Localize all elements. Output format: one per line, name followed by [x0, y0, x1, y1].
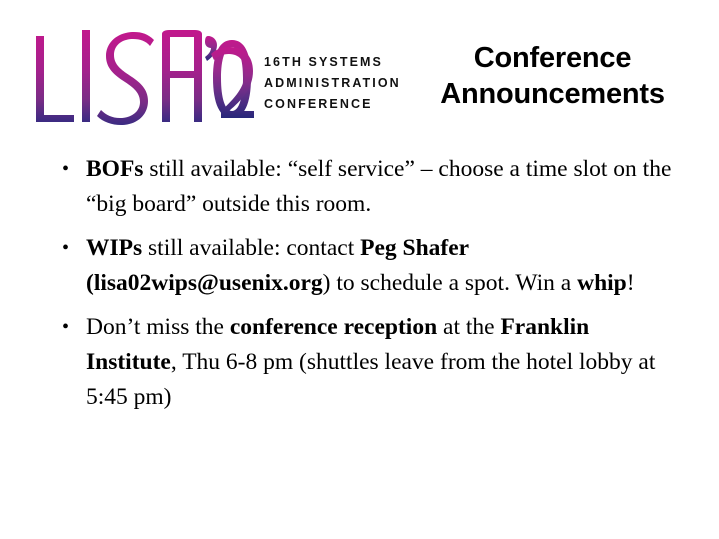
- bullet-list: • BOFs still available: “self service” –…: [58, 152, 683, 424]
- logo-subtitle-line-3: CONFERENCE: [264, 94, 401, 115]
- list-item: • BOFs still available: “self service” –…: [58, 152, 683, 222]
- bullet-icon: •: [62, 152, 69, 187]
- logo-subtitle: 16TH SYSTEMS ADMINISTRATION CONFERENCE: [264, 52, 401, 115]
- slide-header: 16TH SYSTEMS ADMINISTRATION CONFERENCE C…: [0, 0, 719, 140]
- list-item-text: Don’t miss the conference reception at t…: [86, 314, 655, 410]
- logo-subtitle-line-1: 16TH SYSTEMS: [264, 52, 401, 73]
- slide: 16TH SYSTEMS ADMINISTRATION CONFERENCE C…: [0, 0, 719, 539]
- list-item: • Don’t miss the conference reception at…: [58, 310, 683, 415]
- list-item: • WIPs still available: contact Peg Shaf…: [58, 231, 683, 301]
- list-item-text: WIPs still available: contact Peg Shafer…: [86, 235, 635, 296]
- lisa-wordmark-icon: [30, 22, 262, 130]
- lisa-conference-logo: 16TH SYSTEMS ADMINISTRATION CONFERENCE: [30, 22, 400, 134]
- page-title-line-1: Conference: [400, 40, 705, 76]
- bullet-icon: •: [62, 231, 69, 266]
- list-item-text: BOFs still available: “self service” – c…: [86, 156, 671, 217]
- page-title: Conference Announcements: [400, 40, 705, 112]
- bullet-icon: •: [62, 310, 69, 345]
- page-title-line-2: Announcements: [400, 76, 705, 112]
- logo-subtitle-line-2: ADMINISTRATION: [264, 73, 401, 94]
